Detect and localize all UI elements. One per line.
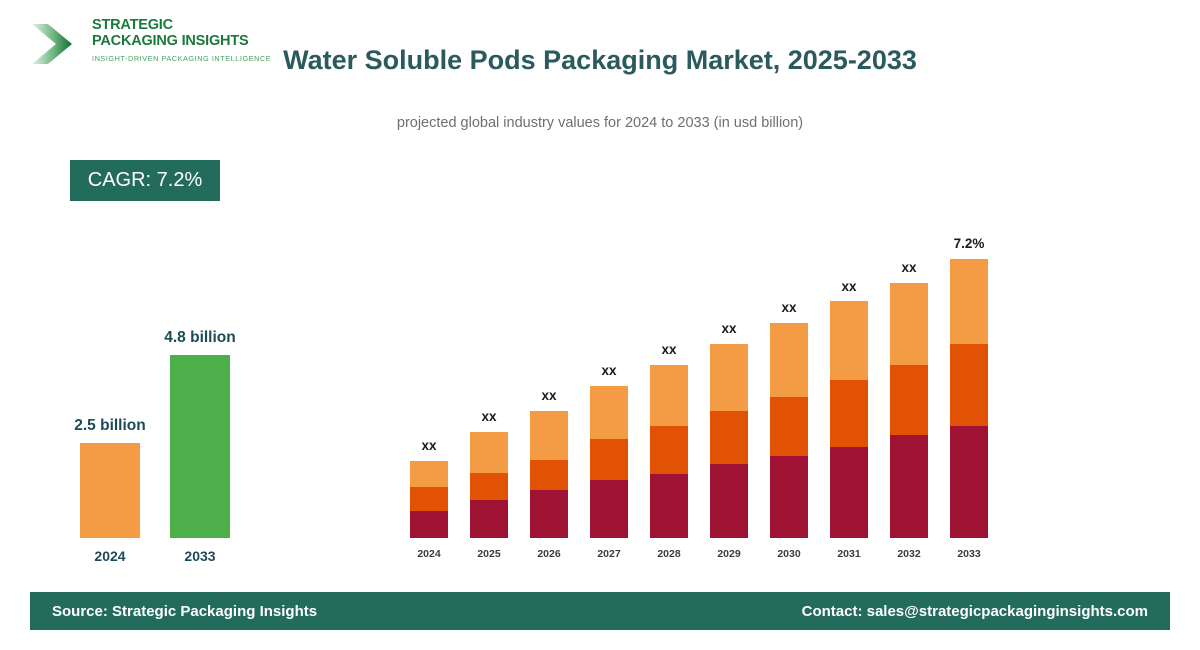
footer-source: Source: Strategic Packaging Insights: [52, 603, 317, 620]
stacked-xlabel-2033: 2033: [944, 548, 994, 560]
stacked-segment-segment-middle-2025: [470, 473, 508, 500]
stacked-column-2026: xx2026: [530, 190, 568, 560]
stacked-column-2033: 7.2%2033: [950, 190, 988, 560]
stacked-xlabel-2028: 2028: [644, 548, 694, 560]
stacked-segment-segment-middle-2030: [770, 397, 808, 456]
stacked-segment-segment-middle-2028: [650, 426, 688, 474]
stacked-column-2032: xx2032: [890, 190, 928, 560]
stacked-segment-segment-bottom-2030: [770, 456, 808, 538]
stacked-segment-segment-top-2029: [710, 344, 748, 411]
stacked-xlabel-2030: 2030: [764, 548, 814, 560]
mini-bar-2024: [80, 443, 140, 538]
stacked-column-2031: xx2031: [830, 190, 868, 560]
stacked-column-2029: xx2029: [710, 190, 748, 560]
stacked-bar-2028: [650, 365, 688, 538]
stacked-top-label-2025: xx: [454, 409, 524, 424]
stacked-top-label-2030: xx: [754, 300, 824, 315]
stacked-segment-segment-middle-2032: [890, 365, 928, 435]
brand-logo: STRATEGIC PACKAGING INSIGHTS INSIGHT-DRI…: [30, 14, 260, 76]
stacked-segment-segment-top-2028: [650, 365, 688, 426]
stacked-xlabel-2025: 2025: [464, 548, 514, 560]
stacked-bar-2024: [410, 461, 448, 538]
stacked-segment-segment-middle-2024: [410, 487, 448, 511]
stacked-segment-segment-top-2033: [950, 259, 988, 344]
mini-bar-value-2024: 2.5 billion: [45, 417, 175, 435]
stacked-segment-segment-bottom-2024: [410, 511, 448, 538]
stacked-column-2024: xx2024: [410, 190, 448, 560]
stacked-bar-2027: [590, 386, 628, 538]
stacked-xlabel-2031: 2031: [824, 548, 874, 560]
stacked-top-label-2026: xx: [514, 388, 584, 403]
stacked-segment-segment-middle-2031: [830, 380, 868, 447]
stacked-top-label-2029: xx: [694, 321, 764, 336]
stacked-segment-segment-top-2026: [530, 411, 568, 460]
stacked-column-2030: xx2030: [770, 190, 808, 560]
stacked-segment-segment-bottom-2033: [950, 426, 988, 538]
stacked-top-label-2024: xx: [394, 438, 464, 453]
stacked-segment-segment-bottom-2028: [650, 474, 688, 538]
mini-bar-xlabel-2033: 2033: [170, 548, 230, 564]
stacked-segment-segment-middle-2027: [590, 439, 628, 480]
stacked-xlabel-2026: 2026: [524, 548, 574, 560]
mini-bar-xlabel-2024: 2024: [80, 548, 140, 564]
stacked-bar-2026: [530, 411, 568, 538]
stacked-bar-2031: [830, 301, 868, 538]
stacked-segment-segment-top-2030: [770, 323, 808, 397]
page-subtitle: projected global industry values for 202…: [240, 115, 960, 131]
page-title: Water Soluble Pods Packaging Market, 202…: [240, 42, 960, 78]
stacked-segment-segment-bottom-2027: [590, 480, 628, 538]
stacked-segment-segment-top-2031: [830, 301, 868, 380]
stacked-column-2025: xx2025: [470, 190, 508, 560]
cagr-badge: CAGR: 7.2%: [70, 160, 220, 201]
stacked-column-2028: xx2028: [650, 190, 688, 560]
stacked-segment-segment-top-2024: [410, 461, 448, 487]
stacked-xlabel-2032: 2032: [884, 548, 934, 560]
stacked-segment-segment-top-2032: [890, 283, 928, 365]
stacked-top-label-2033: 7.2%: [934, 236, 1004, 251]
mini-bar-2033: [170, 355, 230, 538]
footer-bar: Source: Strategic Packaging Insights Con…: [30, 592, 1170, 630]
stacked-segment-segment-middle-2026: [530, 460, 568, 490]
stacked-xlabel-2024: 2024: [404, 548, 454, 560]
stacked-bar-2030: [770, 323, 808, 538]
stacked-column-2027: xx2027: [590, 190, 628, 560]
stacked-top-label-2032: xx: [874, 260, 944, 275]
stacked-top-label-2027: xx: [574, 363, 644, 378]
stacked-bar-2033: [950, 259, 988, 538]
stacked-segment-segment-bottom-2029: [710, 464, 748, 538]
yearly-stacked-forecast-chart: xx2024xx2025xx2026xx2027xx2028xx2029xx20…: [410, 190, 1010, 560]
stacked-segment-segment-bottom-2025: [470, 500, 508, 538]
brand-logo-line1: STRATEGIC: [92, 18, 271, 34]
stacked-xlabel-2027: 2027: [584, 548, 634, 560]
mini-bar-value-2033: 4.8 billion: [135, 329, 265, 347]
stacked-xlabel-2029: 2029: [704, 548, 754, 560]
footer-contact[interactable]: Contact: sales@strategicpackaginginsight…: [802, 603, 1148, 620]
stacked-segment-segment-bottom-2031: [830, 447, 868, 538]
stacked-bar-2029: [710, 344, 748, 538]
endpoint-comparison-chart: 2.5 billion20244.8 billion2033: [50, 300, 290, 570]
stacked-top-label-2028: xx: [634, 342, 704, 357]
stacked-segment-segment-top-2027: [590, 386, 628, 439]
stacked-bar-2032: [890, 283, 928, 538]
chart-infographic: STRATEGIC PACKAGING INSIGHTS INSIGHT-DRI…: [0, 0, 1200, 650]
stacked-segment-segment-bottom-2026: [530, 490, 568, 538]
chevron-right-icon: [30, 20, 82, 68]
stacked-segment-segment-middle-2029: [710, 411, 748, 464]
stacked-segment-segment-middle-2033: [950, 344, 988, 426]
stacked-bar-2025: [470, 432, 508, 538]
stacked-segment-segment-top-2025: [470, 432, 508, 473]
stacked-top-label-2031: xx: [814, 279, 884, 294]
stacked-segment-segment-bottom-2032: [890, 435, 928, 538]
